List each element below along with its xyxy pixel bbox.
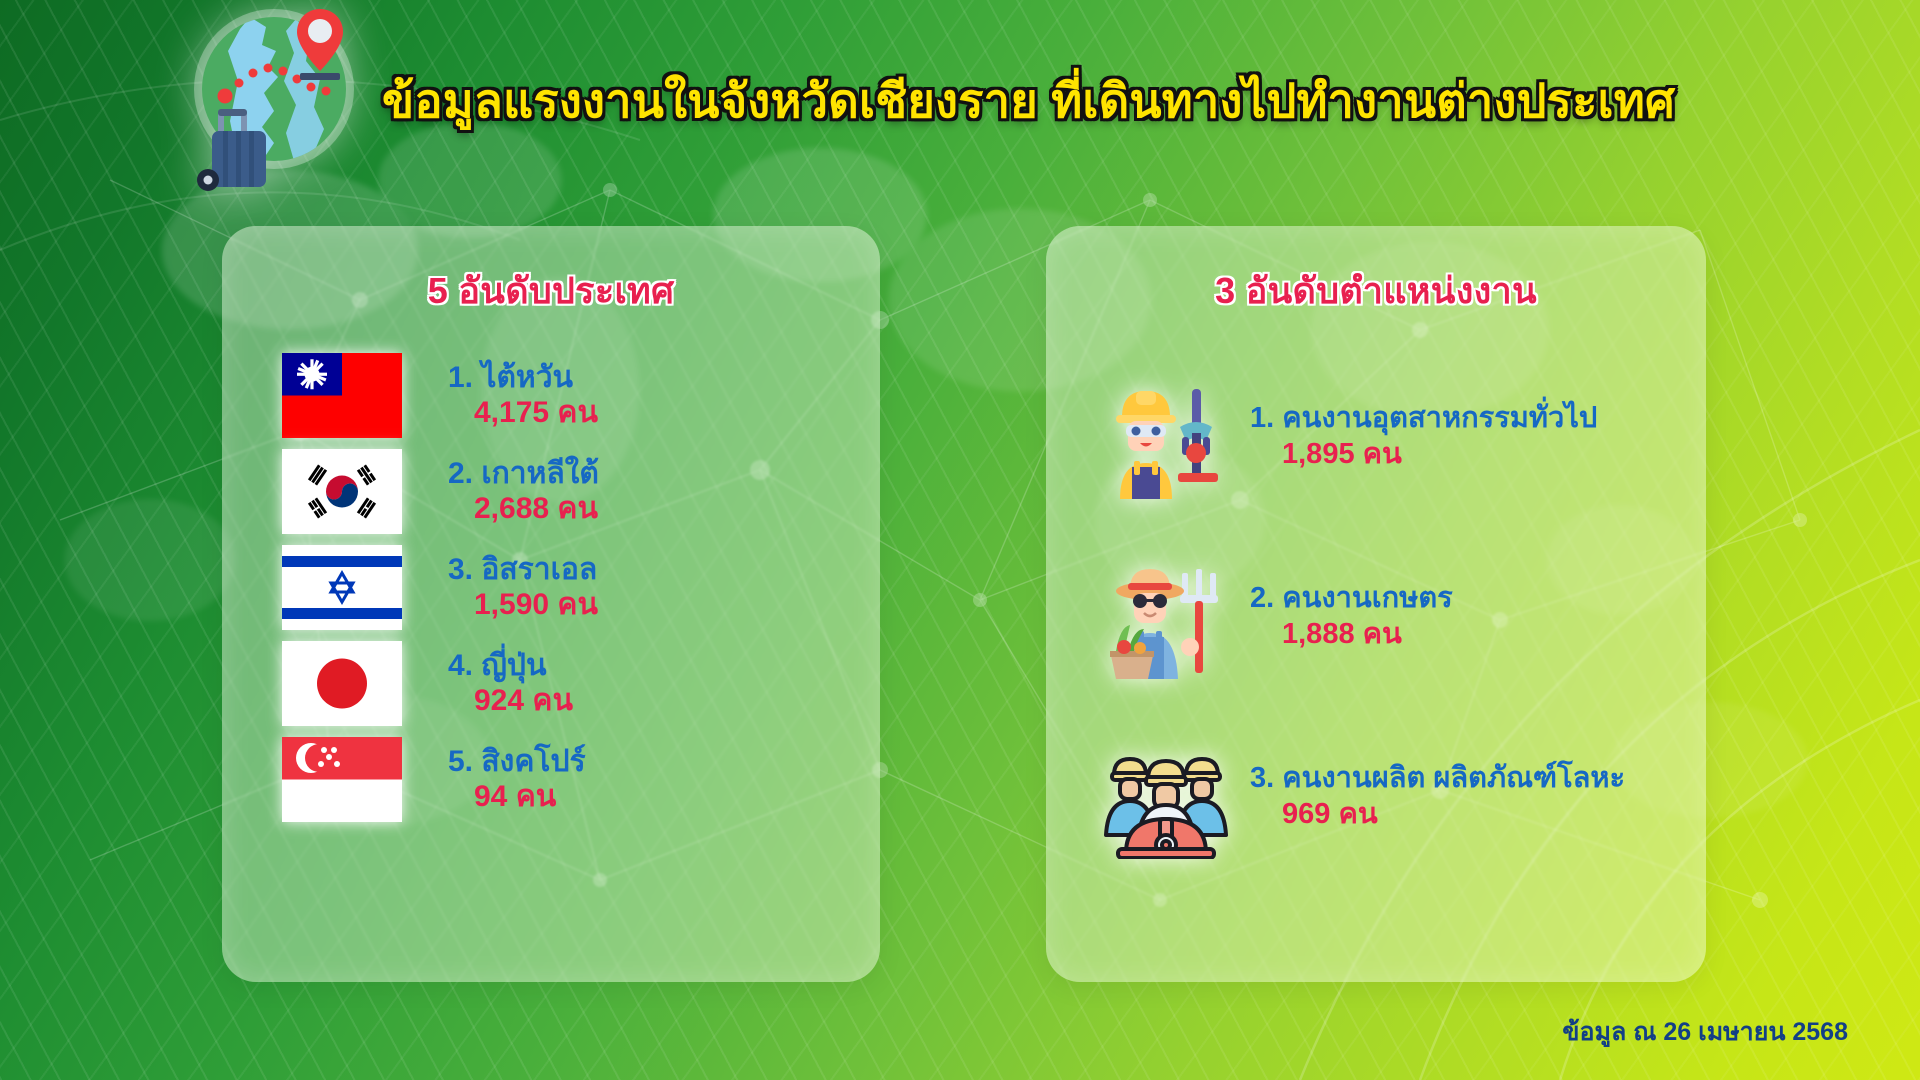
job-count: 969 คน	[1282, 799, 1625, 831]
list-item[interactable]: 5. สิงคโปร์ 94 คน	[282, 731, 880, 827]
jobs-panel: 3 อันดับตำแหน่งงาน	[1046, 226, 1706, 982]
countries-panel: 5 อันดับประเทศ	[222, 226, 880, 982]
list-item[interactable]: 1. คนงานอุตสาหกรรมทั่วไป 1,895 คน	[1104, 375, 1706, 499]
flag-south-korea	[282, 449, 402, 534]
country-name: 2. เกาหลีใต้	[448, 458, 599, 490]
job-text: 2. คนงานเกษตร 1,888 คน	[1250, 583, 1453, 651]
panels-container: 5 อันดับประเทศ	[0, 226, 1920, 986]
jobs-list: 1. คนงานอุตสาหกรรมทั่วไป 1,895 คน	[1046, 375, 1706, 859]
factory-worker-icon	[1104, 375, 1228, 499]
page-title: ข้อมูลแรงงานในจังหวัดเชียงราย ที่เดินทาง…	[382, 63, 1675, 138]
country-count: 2,688 คน	[474, 493, 599, 525]
data-as-of-note: ข้อมูล ณ 26 เมษายน 2568	[1562, 1012, 1848, 1052]
country-text: 3. อิสราเอล 1,590 คน	[448, 554, 598, 621]
countries-list: 1. ไต้หวัน 4,175 คน	[222, 347, 880, 827]
infographic-canvas: ข้อมูลแรงงานในจังหวัดเชียงราย ที่เดินทาง…	[0, 0, 1920, 1080]
list-item[interactable]: 4. ญี่ปุ่น 924 คน	[282, 635, 880, 731]
country-text: 4. ญี่ปุ่น 924 คน	[448, 650, 573, 717]
job-text: 3. คนงานผลิต ผลิตภัณฑ์โลหะ 969 คน	[1250, 763, 1625, 831]
country-count: 94 คน	[474, 781, 586, 813]
globe-travel-suitcase-icon	[178, 1, 368, 191]
flag-israel	[282, 545, 402, 630]
flag-taiwan	[282, 353, 402, 438]
country-count: 924 คน	[474, 685, 573, 717]
job-count: 1,888 คน	[1282, 619, 1453, 651]
flag-singapore	[282, 737, 402, 822]
job-name: 1. คนงานอุตสาหกรรมทั่วไป	[1250, 403, 1597, 435]
country-count: 1,590 คน	[474, 589, 598, 621]
country-name: 1. ไต้หวัน	[448, 362, 598, 394]
header: ข้อมูลแรงงานในจังหวัดเชียงราย ที่เดินทาง…	[0, 0, 1920, 200]
metal-product-workers-icon	[1104, 735, 1228, 859]
country-name: 3. อิสราเอล	[448, 554, 598, 586]
flag-japan	[282, 641, 402, 726]
countries-panel-heading: 5 อันดับประเทศ	[222, 262, 880, 319]
job-name: 3. คนงานผลิต ผลิตภัณฑ์โลหะ	[1250, 763, 1625, 795]
job-count: 1,895 คน	[1282, 439, 1597, 471]
job-text: 1. คนงานอุตสาหกรรมทั่วไป 1,895 คน	[1250, 403, 1597, 471]
country-text: 1. ไต้หวัน 4,175 คน	[448, 362, 598, 429]
list-item[interactable]: 3. อิสราเอล 1,590 คน	[282, 539, 880, 635]
country-name: 5. สิงคโปร์	[448, 746, 586, 778]
farmer-icon	[1104, 555, 1228, 679]
jobs-panel-heading: 3 อันดับตำแหน่งงาน	[1046, 262, 1706, 319]
country-name: 4. ญี่ปุ่น	[448, 650, 573, 682]
list-item[interactable]: 2. เกาหลีใต้ 2,688 คน	[282, 443, 880, 539]
country-text: 2. เกาหลีใต้ 2,688 คน	[448, 458, 599, 525]
list-item[interactable]: 2. คนงานเกษตร 1,888 คน	[1104, 555, 1706, 679]
country-text: 5. สิงคโปร์ 94 คน	[448, 746, 586, 813]
list-item[interactable]: 3. คนงานผลิต ผลิตภัณฑ์โลหะ 969 คน	[1104, 735, 1706, 859]
list-item[interactable]: 1. ไต้หวัน 4,175 คน	[282, 347, 880, 443]
job-name: 2. คนงานเกษตร	[1250, 583, 1453, 615]
country-count: 4,175 คน	[474, 397, 598, 429]
